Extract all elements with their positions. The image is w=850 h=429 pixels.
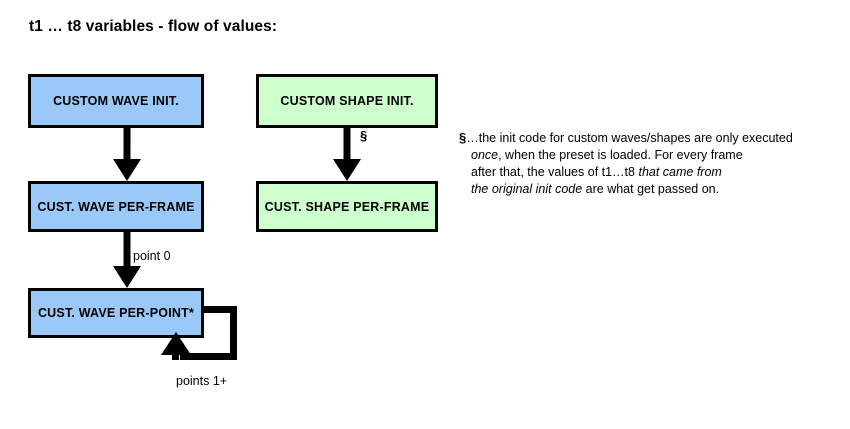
footnote-line-1: §…the init code for custom waves/shapes … (459, 129, 839, 147)
arrow-shape-init-to-per-frame (332, 128, 362, 181)
footnote-line-4: the original init code are what get pass… (459, 181, 839, 198)
footnote-line-3-text: after that, the values of t1…t8 (471, 165, 638, 179)
node-custom-wave-init[interactable]: CUSTOM WAVE INIT. (28, 74, 204, 128)
footnote-line-1-text: …the init code for custom waves/shapes a… (466, 131, 793, 145)
footnote-block: §…the init code for custom waves/shapes … (459, 129, 839, 198)
footnote-line-2: once, when the preset is loaded. For eve… (459, 147, 839, 164)
footnote-line-3: after that, the values of t1…t8 that cam… (459, 164, 839, 181)
arrow-shaft (344, 128, 351, 159)
node-cust-wave-per-frame[interactable]: CUST. WAVE PER-FRAME (28, 181, 204, 232)
footnote-line-4-text: are what get passed on. (582, 182, 719, 196)
section-mark-shape: § (360, 128, 367, 143)
edge-label-points-1-plus: points 1+ (176, 374, 227, 388)
footnote-line-2-emphasis: once (471, 148, 498, 162)
page-title: t1 … t8 variables - flow of values: (29, 18, 277, 36)
arrow-shaft (124, 232, 131, 266)
arrow-wave-per-point-self-loop (158, 302, 240, 364)
node-custom-wave-init-label: CUSTOM WAVE INIT. (53, 94, 179, 108)
edge-label-point-0: point 0 (133, 249, 171, 263)
footnote-line-4-emphasis: the original init code (471, 182, 582, 196)
arrow-head (333, 159, 361, 181)
section-mark-wave: § (124, 128, 131, 143)
diagram-canvas: t1 … t8 variables - flow of values: CUST… (0, 0, 850, 429)
node-cust-wave-per-frame-label: CUST. WAVE PER-FRAME (37, 200, 194, 214)
node-custom-shape-init-label: CUSTOM SHAPE INIT. (280, 94, 413, 108)
arrow-head (161, 332, 191, 355)
footnote-line-2-text: , when the preset is loaded. For every f… (498, 148, 743, 162)
arrow-head (113, 159, 141, 181)
node-cust-shape-per-frame[interactable]: CUST. SHAPE PER-FRAME (256, 181, 438, 232)
footnote-line-3-emphasis: that came from (638, 165, 721, 179)
node-custom-shape-init[interactable]: CUSTOM SHAPE INIT. (256, 74, 438, 128)
node-cust-shape-per-frame-label: CUST. SHAPE PER-FRAME (265, 200, 430, 214)
loop-segment-right (230, 306, 237, 360)
arrow-head (113, 266, 141, 288)
